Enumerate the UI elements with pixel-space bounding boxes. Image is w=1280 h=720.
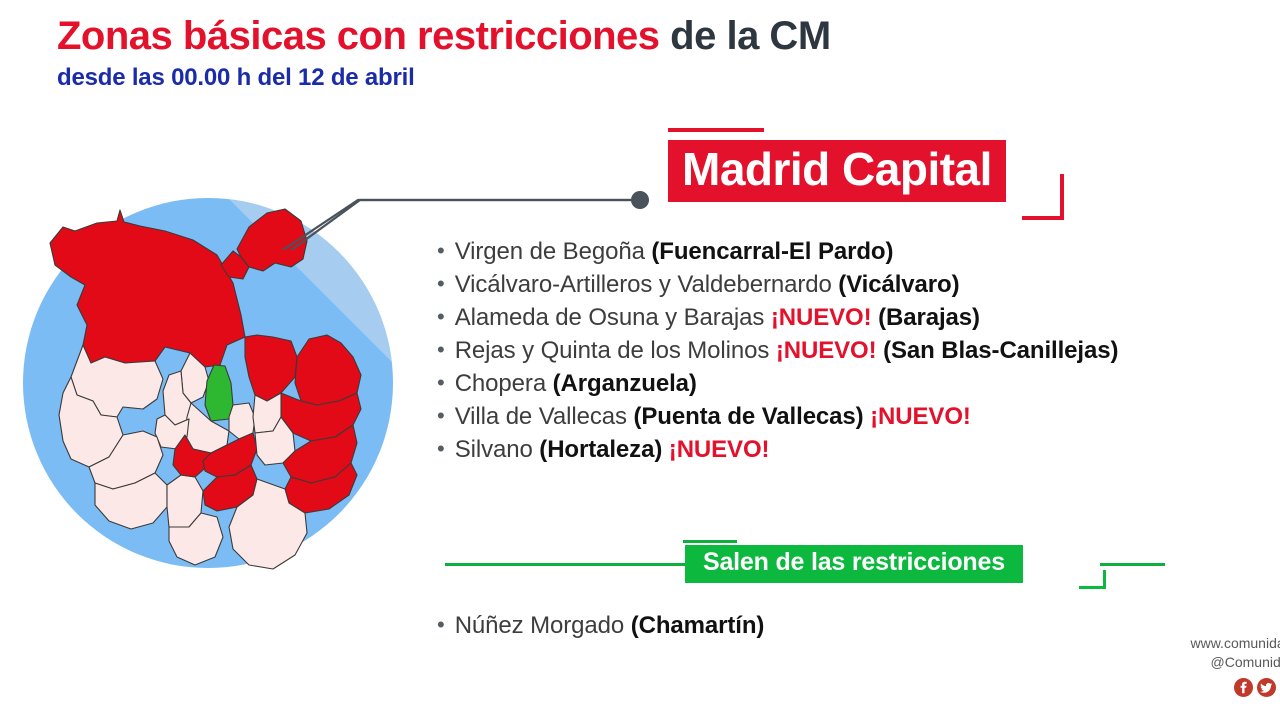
- nuevo-badge: ¡NUEVO!: [776, 337, 877, 364]
- exit-zones-list: • Núñez Morgado (Chamartín): [437, 612, 1137, 645]
- nuevo-badge: ¡NUEVO!: [669, 436, 770, 463]
- zone-district: (Fuencarral-El Pardo): [651, 238, 893, 265]
- exit-banner-rule-left: [445, 563, 693, 566]
- bullet-icon: •: [437, 438, 445, 460]
- page-subtitle: desde las 00.00 h del 12 de abril: [57, 64, 1237, 92]
- zone-name: Virgen de Begoña: [455, 238, 652, 265]
- zone-name: Villa de Vallecas: [455, 403, 634, 430]
- footer: www.comunidad.m @ComunidadM: [1048, 634, 1280, 697]
- capital-banner-accent-corner: [1022, 174, 1064, 220]
- exit-banner: Salen de las restricciones: [685, 545, 1023, 583]
- nuevo-badge: ¡NUEVO!: [771, 304, 872, 331]
- exit-banner-rule-right: [1100, 563, 1165, 566]
- zone-entry: Rejas y Quinta de los Molinos ¡NUEVO! (S…: [455, 337, 1119, 365]
- connector-dot: [631, 191, 649, 209]
- map-svg: [5, 165, 405, 605]
- zone-entry: Alameda de Osuna y Barajas ¡NUEVO! (Bara…: [455, 304, 980, 332]
- zone-district: (Arganzuela): [553, 370, 697, 397]
- zone-entry: Silvano (Hortaleza) ¡NUEVO!: [455, 436, 770, 464]
- bullet-icon: •: [437, 614, 445, 636]
- bullet-icon: •: [437, 306, 445, 328]
- zone-district: (Barajas): [878, 304, 980, 331]
- page-title-dark: de la CM: [660, 14, 831, 58]
- list-item: • Núñez Morgado (Chamartín): [437, 612, 1137, 640]
- list-item: • Silvano (Hortaleza) ¡NUEVO!: [437, 436, 1277, 464]
- twitter-icon[interactable]: [1257, 678, 1276, 697]
- zone-entry: Chopera (Arganzuela): [455, 370, 697, 398]
- zone-name: Rejas y Quinta de los Molinos: [455, 337, 776, 364]
- zone-district: (Puenta de Vallecas): [633, 403, 863, 430]
- capital-banner-group: Madrid Capital: [655, 128, 1115, 228]
- zone-district: (Chamartín): [631, 612, 765, 639]
- list-item: • Rejas y Quinta de los Molinos ¡NUEVO! …: [437, 337, 1277, 365]
- restricted-zones-list: • Virgen de Begoña (Fuencarral-El Pardo)…: [437, 238, 1277, 469]
- zone-entry: Núñez Morgado (Chamartín): [455, 612, 765, 640]
- zone-name: Chopera: [455, 370, 553, 397]
- page-title: Zonas básicas con restricciones de la CM: [57, 14, 1237, 59]
- list-item: • Virgen de Begoña (Fuencarral-El Pardo): [437, 238, 1277, 266]
- bullet-icon: •: [437, 405, 445, 427]
- social-links: [1048, 678, 1280, 697]
- zone-entry: Vicálvaro-Artilleros y Valdebernardo (Vi…: [455, 271, 960, 299]
- nuevo-badge: ¡NUEVO!: [870, 403, 971, 430]
- capital-banner: Madrid Capital: [668, 140, 1006, 202]
- bullet-icon: •: [437, 372, 445, 394]
- zone-name: Silvano: [455, 436, 540, 463]
- exit-banner-accent-top: [683, 540, 737, 543]
- page-title-red: Zonas básicas con restricciones: [57, 14, 660, 58]
- bullet-icon: •: [437, 273, 445, 295]
- list-item: • Villa de Vallecas (Puenta de Vallecas)…: [437, 403, 1277, 431]
- zone-district: (Vicálvaro): [838, 271, 959, 298]
- footer-handle[interactable]: @ComunidadM: [1048, 653, 1280, 672]
- zone-entry: Virgen de Begoña (Fuencarral-El Pardo): [455, 238, 894, 266]
- bullet-icon: •: [437, 339, 445, 361]
- facebook-icon[interactable]: [1234, 678, 1253, 697]
- bullet-icon: •: [437, 240, 445, 262]
- zone-name: Núñez Morgado: [455, 612, 631, 639]
- footer-website[interactable]: www.comunidad.m: [1048, 634, 1280, 653]
- exit-banner-group: Salen de las restricciones: [445, 540, 1165, 590]
- list-item: • Vicálvaro-Artilleros y Valdebernardo (…: [437, 271, 1277, 299]
- madrid-districts-map: [5, 165, 405, 605]
- capital-banner-accent-top: [668, 128, 764, 132]
- header: Zonas básicas con restricciones de la CM…: [57, 14, 1237, 92]
- list-item: • Alameda de Osuna y Barajas ¡NUEVO! (Ba…: [437, 304, 1277, 332]
- exit-banner-accent-corner: [1079, 570, 1106, 589]
- zone-name: Vicálvaro-Artilleros y Valdebernardo: [455, 271, 839, 298]
- zone-name: Alameda de Osuna y Barajas: [455, 304, 771, 331]
- list-item: • Chopera (Arganzuela): [437, 370, 1277, 398]
- zone-district: (Hortaleza): [539, 436, 662, 463]
- zone-entry: Villa de Vallecas (Puenta de Vallecas) ¡…: [455, 403, 971, 431]
- zone-district: (San Blas-Canillejas): [883, 337, 1118, 364]
